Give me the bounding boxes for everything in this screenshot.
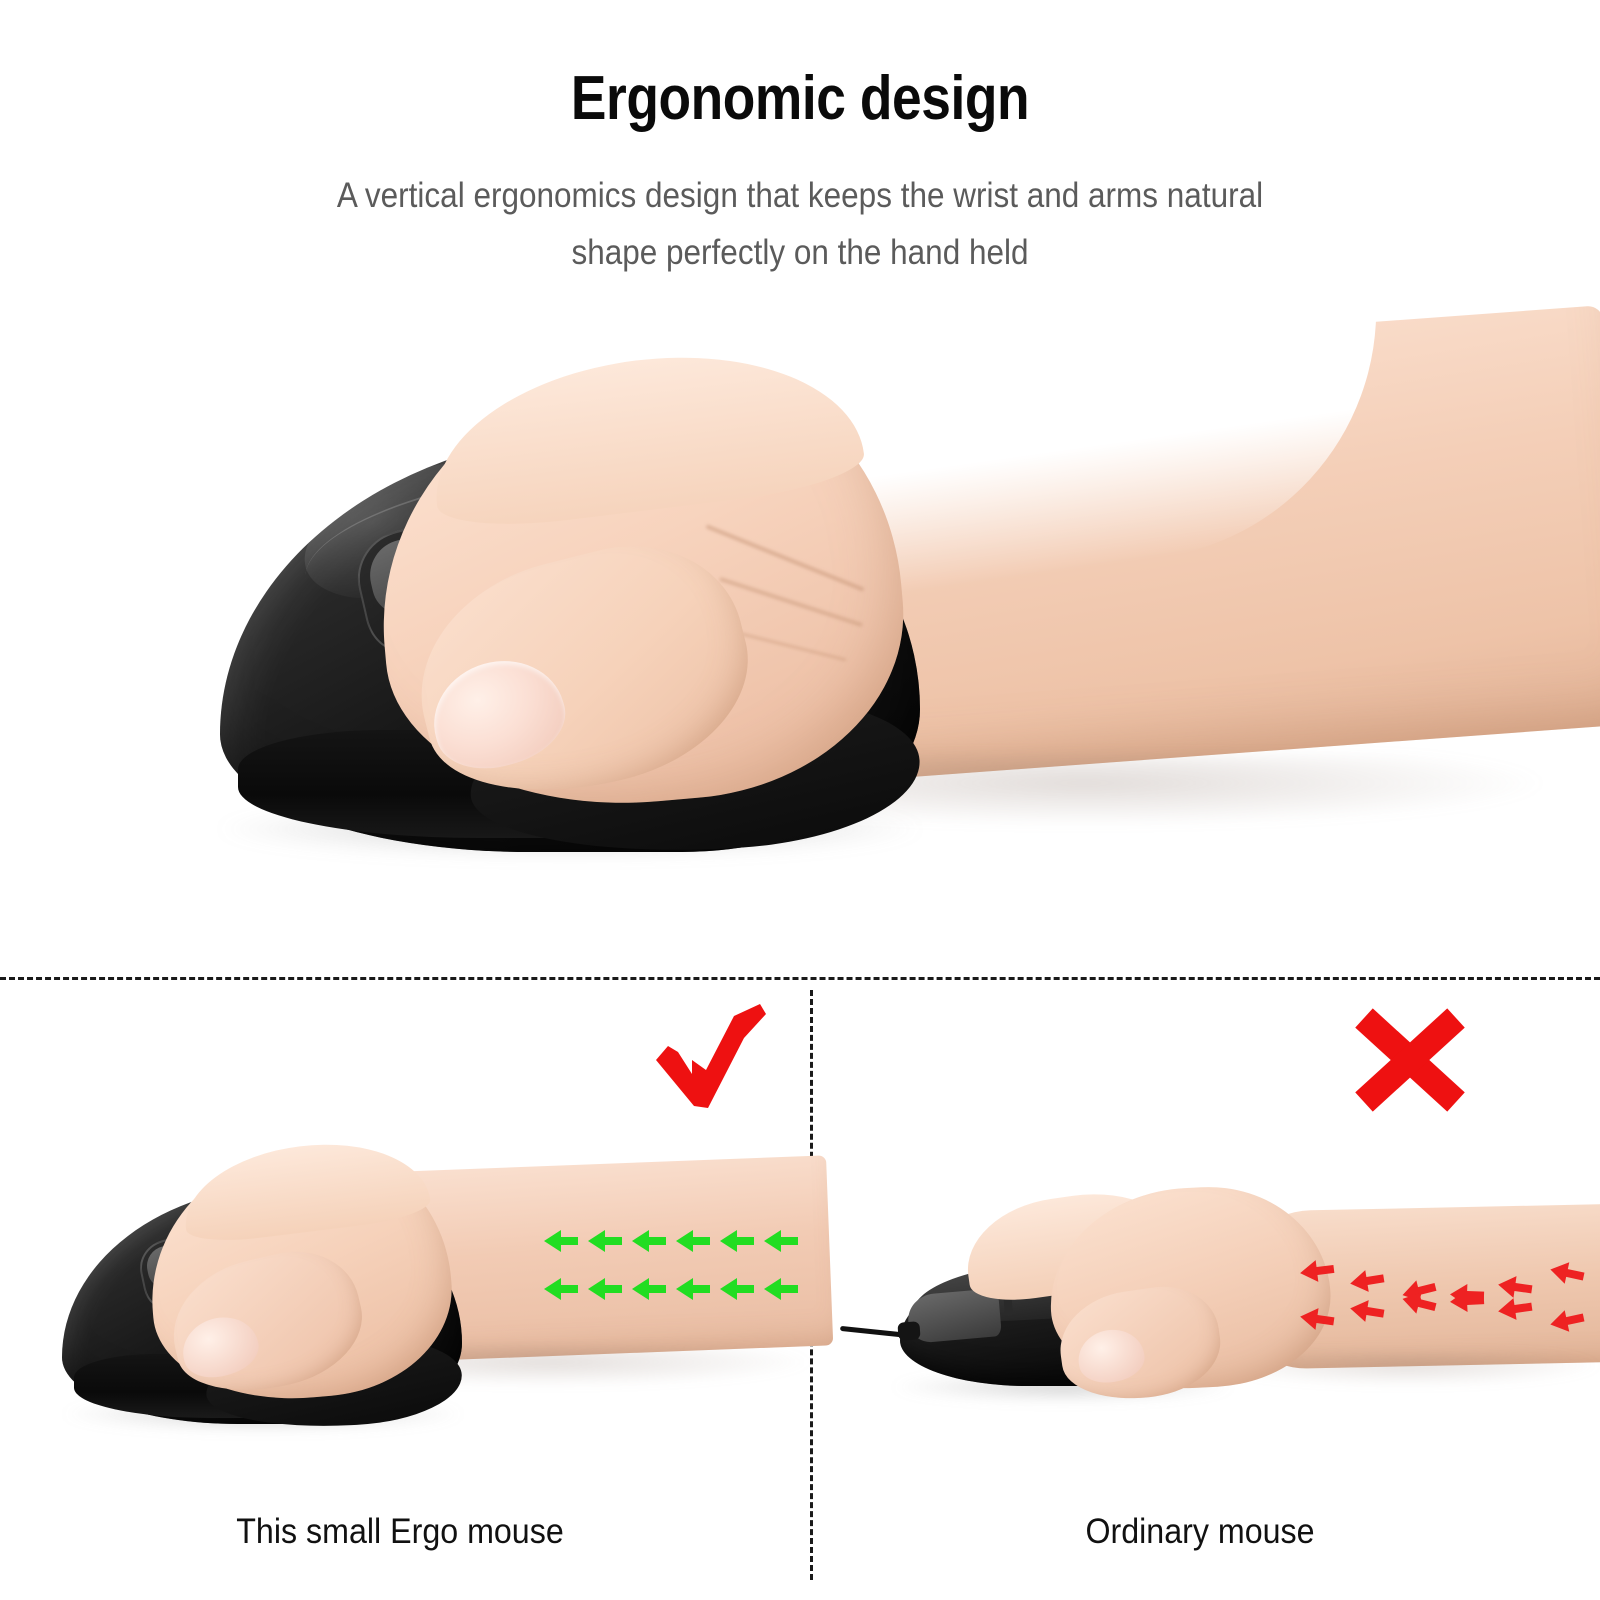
check-icon: [648, 1002, 778, 1110]
ordinary-forearm-shadow: [1250, 1352, 1600, 1386]
page-subtitle: A vertical ergonomics design that keeps …: [242, 168, 1358, 281]
red-arrow-row-bottom: [1299, 1288, 1586, 1335]
green-arrow-group: [540, 1222, 810, 1322]
green-arrow-row-bottom: [544, 1278, 798, 1300]
subtitle-line-1: A vertical ergonomics design that keeps …: [242, 168, 1358, 225]
page-title: Ergonomic design: [112, 68, 1488, 130]
cross-icon: [1348, 1008, 1472, 1112]
caption-ordinary-mouse: Ordinary mouse: [832, 1512, 1568, 1552]
hero-scene: [0, 300, 1600, 978]
red-arrow-row-top: [1299, 1258, 1586, 1307]
cable-strain-relief: [897, 1321, 920, 1340]
header: Ergonomic design A vertical ergonomics d…: [0, 0, 1600, 300]
caption-ergo-mouse: This small Ergo mouse: [32, 1512, 768, 1552]
red-arrow-group: [1298, 1248, 1598, 1352]
green-arrow-row-top: [544, 1230, 798, 1252]
hero-product-photo: [0, 300, 1600, 978]
subtitle-line-2: shape perfectly on the hand held: [242, 225, 1358, 282]
